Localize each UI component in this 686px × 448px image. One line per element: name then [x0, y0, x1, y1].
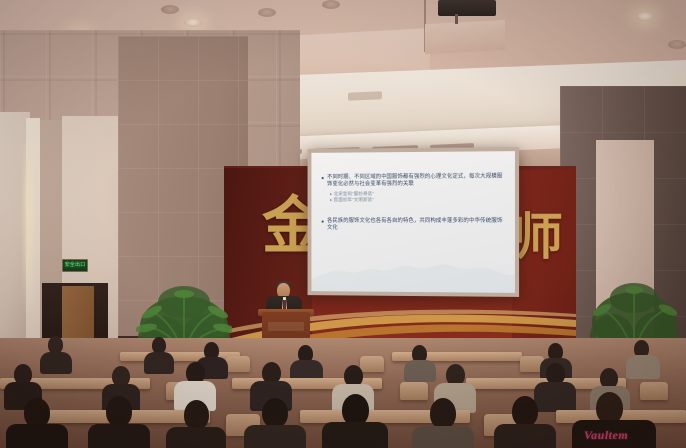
chair: [226, 356, 250, 372]
column-light-strip: [24, 130, 33, 320]
slide-mountain-watermark: [311, 246, 515, 293]
slide-bullet: ● 不同时期、不同区域的中国服饰都有强烈的心理文化定式，每次大规模服饰变化必然与…: [321, 173, 507, 187]
downlight-icon: [322, 0, 340, 9]
downlight-icon: [258, 8, 276, 17]
slide-spacer: [321, 204, 507, 218]
chair: [360, 356, 384, 372]
podium-nameplate: [268, 322, 304, 331]
downlight-icon: [184, 18, 202, 27]
slide-content: ● 不同时期、不同区域的中国服饰都有强烈的心理文化定式，每次大规模服饰变化必然与…: [321, 173, 507, 234]
projector-mount-plate: [425, 20, 505, 54]
slide-bullet: ● 各民族的服饰文化也各有各自的特色，共同构成丰蓬多彩的中华传统服饰文化: [321, 218, 507, 232]
ceiling-projector: [438, 0, 496, 16]
bullet-marker-icon: ●: [321, 218, 324, 231]
bullet-marker-icon: ●: [321, 174, 324, 187]
bullet-text: 各民族的服饰文化也各有各自的特色，共同构成丰蓬多彩的中华传统服饰文化: [327, 218, 507, 232]
projection-screen: ● 不同时期、不同区域的中国服饰都有强烈的心理文化定式，每次大规模服饰变化必然与…: [311, 151, 515, 293]
soffit-recess: [348, 91, 382, 100]
exit-sign: 安全出口: [62, 259, 88, 272]
backdrop-gold-character-right: 师: [513, 212, 563, 262]
bullet-text: 不同时期、不同区域的中国服饰都有强烈的心理文化定式，每次大规模服饰变化必然与社会…: [327, 173, 507, 187]
projector-pole: [455, 14, 458, 24]
downlight-icon: [668, 40, 686, 49]
chair: [640, 382, 668, 400]
downlight-icon: [636, 12, 654, 21]
chair: [400, 382, 428, 400]
jacket-logo-text: Vaultem: [584, 428, 654, 442]
downlight-icon: [161, 5, 179, 14]
exit-sign-label: 安全出口: [65, 263, 86, 268]
photo-scene: 安全出口 金 师 ● 不同时期、不同区域的中国服饰都有强烈的心理文化定式，每次大…: [0, 0, 686, 448]
